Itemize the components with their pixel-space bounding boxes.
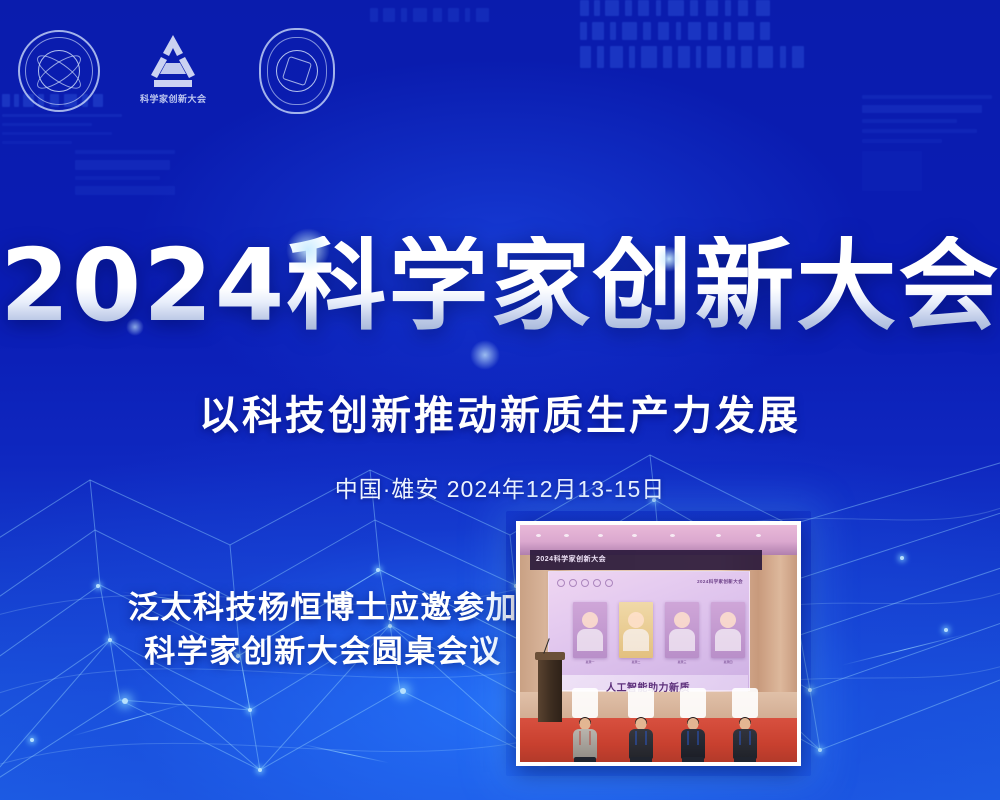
stage-chair: [572, 688, 598, 718]
event-caption: 泛太科技杨恒博士应邀参加 科学家创新大会圆桌会议: [128, 586, 518, 674]
speaker-portrait: [711, 602, 745, 658]
digital-blocks-decoration-mid-right: [862, 95, 1000, 205]
roundtable-photo: 2024科学家创新大会 2024科学家创新大会 嘉宾一 嘉宾二 嘉宾三 嘉宾四 …: [516, 521, 801, 766]
digital-blocks-decoration-mid-left: [75, 150, 185, 210]
event-dateline: 中国·雄安 2024年12月13-15日: [0, 470, 1000, 504]
caption-line-1: 泛太科技杨恒博士应邀参加: [128, 586, 518, 630]
stage-chair: [680, 688, 706, 718]
organization-seal-right: [259, 28, 335, 114]
podium: [538, 652, 562, 722]
screen-logo-icons: [557, 579, 613, 587]
speaker-name: 嘉宾一: [573, 660, 607, 665]
speaker-portrait: [619, 602, 653, 658]
organization-seal-left: [18, 30, 100, 112]
page-title: 2024科学家创新大会: [0, 236, 1000, 336]
triangle-logo-center: 科学家创新大会: [140, 32, 207, 109]
seal-left-icon: [18, 30, 100, 112]
speaker-name: 嘉宾三: [665, 660, 699, 665]
main-title-block: 2024科学家创新大会: [0, 236, 1000, 336]
page-subtitle: 以科技创新推动新质生产力发展: [0, 383, 1000, 441]
stage-chair: [628, 688, 654, 718]
digital-blocks-decoration-top-center: [370, 8, 600, 68]
stage-chair: [732, 688, 758, 718]
triangle-mark-icon: [142, 32, 204, 90]
stage-led-screen: 2024科学家创新大会 嘉宾一 嘉宾二 嘉宾三 嘉宾四: [548, 571, 750, 691]
screen-title-text: 2024科学家创新大会: [697, 579, 743, 585]
logo-row: 科学家创新大会: [18, 28, 335, 114]
triangle-logo-label: 科学家创新大会: [140, 95, 207, 104]
roundtable-photo-content: 2024科学家创新大会 2024科学家创新大会 嘉宾一 嘉宾二 嘉宾三 嘉宾四 …: [520, 525, 797, 762]
stage-header-text: 2024科学家创新大会: [536, 554, 606, 564]
speaker-portrait: [665, 602, 699, 658]
speaker-name: 嘉宾二: [619, 660, 653, 665]
seal-right-icon: [259, 28, 335, 114]
conference-poster: 科学家创新大会: [0, 0, 1000, 800]
speaker-portrait: [573, 602, 607, 658]
stage-header-band: 2024科学家创新大会: [530, 550, 762, 570]
caption-line-2: 科学家创新大会圆桌会议: [128, 630, 518, 674]
speaker-name: 嘉宾四: [711, 660, 745, 665]
